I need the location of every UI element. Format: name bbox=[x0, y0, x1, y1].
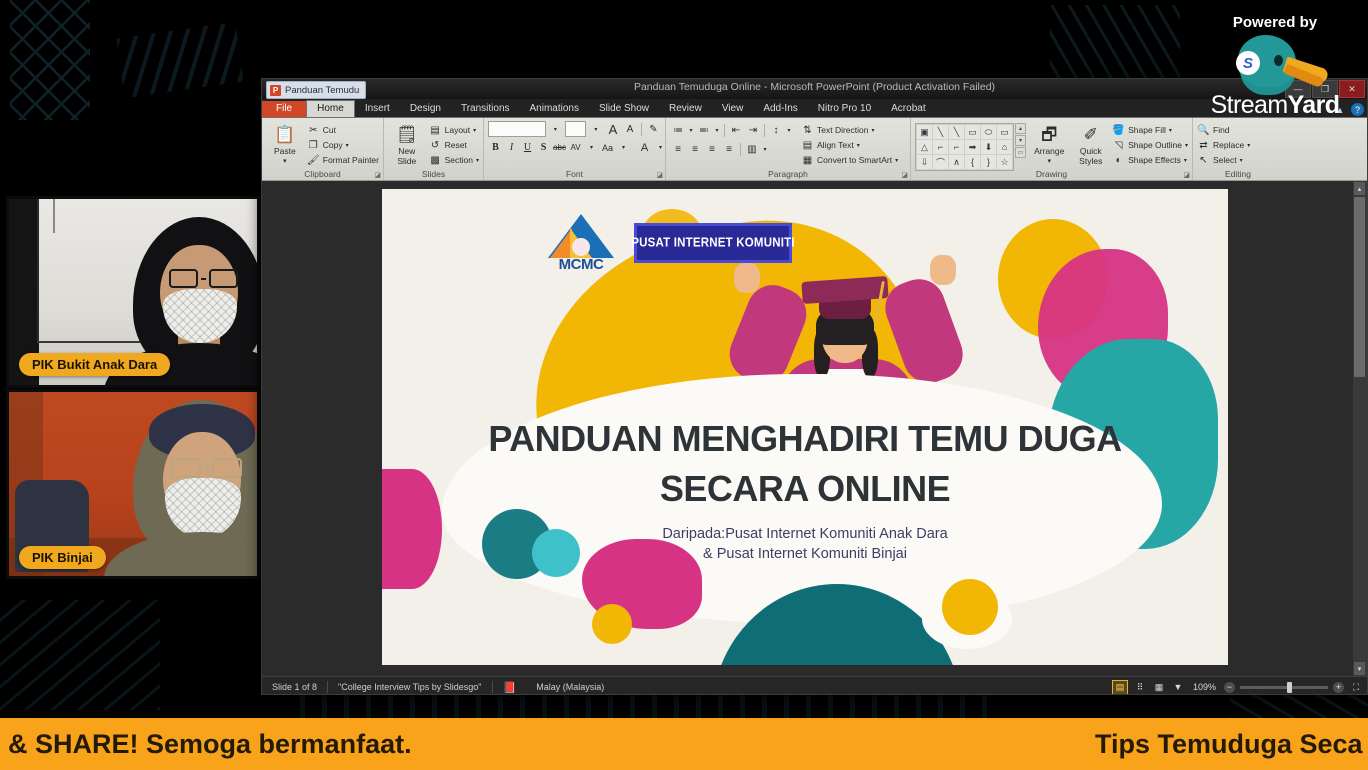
align-center-button[interactable]: ≡ bbox=[687, 142, 703, 157]
arrange-icon: 🗗 bbox=[1036, 123, 1062, 147]
shape-effects-icon: ◐ bbox=[1112, 154, 1125, 167]
clipboard-dialog-launcher[interactable]: ◪ bbox=[374, 171, 381, 179]
text-direction-label: Text Direction bbox=[817, 125, 869, 135]
shape-gallery-item[interactable]: ☆ bbox=[997, 155, 1012, 169]
chevron-down-icon[interactable]: ▾ bbox=[857, 142, 860, 149]
powerpoint-window[interactable]: P Panduan Temudu Panduan Temuduga Online… bbox=[261, 78, 1368, 695]
duck-eye bbox=[1274, 55, 1283, 66]
cut-label: Cut bbox=[323, 125, 336, 135]
shape-gallery-item[interactable]: ⌂ bbox=[997, 140, 1012, 154]
group-label-editing: Editing bbox=[1193, 169, 1283, 180]
hand-shape bbox=[930, 255, 956, 285]
group-label-clipboard: Clipboard bbox=[262, 169, 383, 180]
ribbon-group-clipboard: 📋 Paste ▾ ✂ Cut ❐ Copy ▾ bbox=[262, 118, 384, 180]
chevron-down-icon[interactable]: ▾ bbox=[1185, 142, 1188, 149]
shape-fill-label: Shape Fill bbox=[1128, 125, 1166, 135]
copy-button[interactable]: ❐ Copy ▾ bbox=[307, 138, 379, 152]
shapes-gallery-scroll[interactable]: ▴ ▾ ▭ bbox=[1015, 123, 1026, 158]
group-label-paragraph: Paragraph bbox=[666, 169, 910, 180]
tab-add-ins[interactable]: Add-Ins bbox=[753, 101, 807, 117]
section-icon: ▩ bbox=[429, 154, 442, 167]
slide-title-line-1: PANDUAN MENGHADIRI TEMU DUGA bbox=[422, 414, 1188, 464]
smartart-icon: ▦ bbox=[801, 154, 814, 167]
chevron-down-icon[interactable]: ▾ bbox=[473, 127, 476, 134]
mcmc-circle bbox=[572, 238, 590, 256]
shape-gallery-item[interactable]: ▭ bbox=[997, 125, 1012, 139]
scissors-icon: ✂ bbox=[307, 124, 320, 137]
find-label: Find bbox=[1213, 125, 1230, 135]
format-painter-label: Format Painter bbox=[323, 155, 379, 165]
shape-outline-label: Shape Outline bbox=[1128, 140, 1182, 150]
whiteboard-frame bbox=[53, 199, 55, 233]
quick-styles-label-2: Styles bbox=[1079, 157, 1102, 167]
shape-gallery-item[interactable]: ╲ bbox=[949, 125, 964, 139]
shape-gallery-item[interactable]: ⌐ bbox=[933, 140, 948, 154]
change-case-button[interactable]: Aa bbox=[600, 140, 615, 155]
shape-gallery-item[interactable]: ⬇ bbox=[981, 140, 996, 154]
fit-to-window-button[interactable]: ⛶ bbox=[1349, 681, 1363, 694]
tab-design[interactable]: Design bbox=[400, 101, 451, 117]
shape-fill-icon: 🪣 bbox=[1112, 124, 1125, 137]
paragraph-dialog-launcher[interactable]: ◪ bbox=[901, 171, 908, 179]
slide-counter: Slide 1 of 8 bbox=[262, 682, 327, 692]
new-slide-icon: 🗒 bbox=[394, 123, 420, 147]
slide-editing-area[interactable]: MCMC PUSAT INTERNET KOMUNITI PANDUAN MEN… bbox=[262, 181, 1367, 676]
chevron-down-icon[interactable]: ▾ bbox=[616, 140, 631, 155]
status-bar[interactable]: Slide 1 of 8 "College Interview Tips by … bbox=[262, 676, 1367, 695]
language-indicator[interactable]: Malay (Malaysia) bbox=[526, 682, 614, 692]
chevron-down-icon[interactable]: ▾ bbox=[1184, 157, 1187, 164]
spell-check-icon[interactable]: 📕 bbox=[493, 681, 527, 694]
stream-stage: PIK Bukit Anak Dara bbox=[0, 0, 1368, 770]
tab-nitro-pro-10[interactable]: Nitro Pro 10 bbox=[808, 101, 881, 117]
numbering-button[interactable]: ≕ bbox=[696, 123, 712, 138]
ribbon-group-editing: 🔍 Find ⇄ Replace ▾ ↖ Select ▾ bbox=[1193, 118, 1283, 180]
vertical-scrollbar[interactable]: ▴ ▾ bbox=[1353, 181, 1367, 676]
font-size-dropdown-icon[interactable]: ▾ bbox=[588, 122, 603, 137]
shape-outline-button[interactable]: ◹ Shape Outline ▾ bbox=[1112, 138, 1188, 152]
chevron-down-icon[interactable]: ▾ bbox=[761, 142, 769, 157]
font-color-button[interactable]: A bbox=[637, 140, 652, 155]
whiteboard-frame bbox=[37, 199, 39, 343]
pik-badge-text: PUSAT INTERNET KOMUNITI bbox=[631, 236, 794, 250]
strikethrough-button[interactable]: abc bbox=[552, 140, 567, 155]
slide-canvas[interactable]: MCMC PUSAT INTERNET KOMUNITI PANDUAN MEN… bbox=[382, 189, 1228, 665]
shape-gallery-item[interactable]: ▣ bbox=[917, 125, 932, 139]
align-text-button[interactable]: ▤ Align Text ▾ bbox=[801, 138, 898, 152]
paste-icon: 📋 bbox=[272, 123, 298, 147]
zoom-out-button[interactable]: − bbox=[1224, 682, 1235, 693]
chevron-down-icon[interactable]: ▾ bbox=[1247, 142, 1250, 149]
tab-home[interactable]: Home bbox=[306, 100, 355, 117]
shape-gallery-item[interactable]: } bbox=[981, 155, 996, 169]
zoom-slider-handle[interactable] bbox=[1287, 682, 1292, 693]
font-name-dropdown-icon[interactable]: ▾ bbox=[548, 122, 563, 137]
view-normal-button[interactable]: ▤ bbox=[1112, 680, 1128, 695]
background-scribble bbox=[0, 600, 160, 710]
camera-tile-1[interactable]: PIK Bukit Anak Dara bbox=[6, 196, 260, 388]
brand-yard: Yard bbox=[1288, 91, 1340, 119]
chevron-down-icon[interactable]: ▾ bbox=[1240, 157, 1243, 164]
align-text-icon: ▤ bbox=[801, 139, 814, 152]
replace-label: Replace bbox=[1213, 140, 1244, 150]
tab-review[interactable]: Review bbox=[659, 101, 712, 117]
shape-gallery-item[interactable]: ▭ bbox=[965, 125, 980, 139]
drawing-dialog-launcher[interactable]: ◪ bbox=[1183, 171, 1190, 179]
font-size-input[interactable] bbox=[565, 121, 587, 137]
convert-smartart-label: Convert to SmartArt bbox=[817, 155, 892, 165]
search-icon: 🔍 bbox=[1197, 124, 1210, 137]
slide-subtitle-line-2: & Pusat Internet Komuniti Binjai bbox=[422, 544, 1188, 564]
grow-font-button[interactable]: A bbox=[605, 122, 620, 137]
copy-label: Copy bbox=[323, 140, 343, 150]
underline-button[interactable]: U bbox=[520, 140, 535, 155]
ribbon-group-font: ▾ ▾ A A ✎ B I U S abc AV bbox=[484, 118, 666, 180]
shape-fill-button[interactable]: 🪣 Shape Fill ▾ bbox=[1112, 123, 1188, 137]
blob-yellow bbox=[942, 579, 998, 635]
ticker-text-right: Tips Temuduga Seca bbox=[1095, 729, 1363, 760]
paste-dropdown-arrow[interactable]: ▾ bbox=[283, 157, 287, 167]
theme-name[interactable]: "College Interview Tips by Slidesgo" bbox=[328, 682, 491, 692]
chevron-down-icon[interactable]: ▾ bbox=[1169, 127, 1172, 134]
group-label-slides: Slides bbox=[384, 169, 483, 180]
chevron-down-icon[interactable]: ▾ bbox=[872, 127, 875, 134]
mcmc-triangle-orange bbox=[550, 228, 572, 258]
layout-icon: ▤ bbox=[429, 124, 442, 137]
shape-gallery-item[interactable]: ➡ bbox=[965, 140, 980, 154]
group-label-drawing: Drawing bbox=[911, 169, 1192, 180]
chevron-down-icon[interactable]: ▾ bbox=[346, 142, 349, 149]
participant-name-badge: PIK Binjai bbox=[19, 546, 106, 569]
zoom-level: 109% bbox=[1190, 682, 1219, 692]
align-text-label: Align Text bbox=[817, 140, 854, 150]
paintbrush-icon: 🖌 bbox=[307, 154, 320, 167]
align-right-button[interactable]: ≡ bbox=[704, 142, 720, 157]
quick-styles-icon: ✐ bbox=[1078, 123, 1104, 147]
shrink-font-button[interactable]: A bbox=[622, 122, 637, 137]
layout-label: Layout bbox=[445, 125, 471, 135]
shape-gallery-item[interactable]: ⌒ bbox=[933, 155, 948, 169]
divider bbox=[740, 143, 741, 156]
text-shadow-button[interactable]: S bbox=[536, 140, 551, 155]
divider bbox=[724, 124, 725, 137]
hand-shape bbox=[734, 263, 760, 293]
shape-gallery-item[interactable]: ⌐ bbox=[949, 140, 964, 154]
shape-gallery-item[interactable]: ∧ bbox=[949, 155, 964, 169]
bold-button[interactable]: B bbox=[488, 140, 503, 155]
reset-button[interactable]: ↺ Reset bbox=[429, 138, 479, 152]
reset-label: Reset bbox=[445, 140, 467, 150]
help-icon[interactable]: ? bbox=[1351, 103, 1364, 116]
glasses-icon bbox=[171, 458, 242, 478]
line-spacing-button[interactable]: ↕ bbox=[768, 123, 784, 138]
scroll-up-icon[interactable]: ▴ bbox=[1354, 182, 1365, 195]
mcmc-logo: MCMC bbox=[544, 214, 618, 276]
shape-gallery-item[interactable]: { bbox=[965, 155, 980, 169]
tab-file[interactable]: File bbox=[262, 101, 306, 117]
more-shapes-icon[interactable]: ▭ bbox=[1015, 147, 1026, 158]
decrease-indent-button[interactable]: ⇤ bbox=[728, 123, 744, 138]
select-label: Select bbox=[1213, 155, 1237, 165]
ribbon[interactable]: 📋 Paste ▾ ✂ Cut ❐ Copy ▾ bbox=[262, 118, 1367, 181]
tab-acrobat[interactable]: Acrobat bbox=[881, 101, 935, 117]
pusat-internet-komuniti-badge: PUSAT INTERNET KOMUNITI bbox=[634, 223, 792, 263]
shape-effects-button[interactable]: ◐ Shape Effects ▾ bbox=[1112, 153, 1188, 167]
text-direction-icon: ⇅ bbox=[801, 124, 814, 137]
view-slideshow-button[interactable]: ▼ bbox=[1171, 681, 1185, 694]
chevron-down-icon[interactable]: ▾ bbox=[584, 140, 599, 155]
tab-view[interactable]: View bbox=[712, 101, 754, 117]
cursor-icon: ↖ bbox=[1197, 154, 1210, 167]
bottom-ticker-banner: & SHARE! Semoga bermanfaat. Tips Temudug… bbox=[0, 718, 1368, 770]
replace-button[interactable]: ⇄ Replace ▾ bbox=[1197, 138, 1250, 152]
font-name-input[interactable] bbox=[488, 121, 546, 137]
streamyard-brand-name: StreamYard bbox=[1200, 91, 1350, 120]
copy-icon: ❐ bbox=[307, 139, 320, 152]
arrange-label: Arrange bbox=[1034, 147, 1064, 157]
divider bbox=[764, 124, 765, 137]
convert-to-smartart-button[interactable]: ▦ Convert to SmartArt ▾ bbox=[801, 153, 898, 167]
ribbon-group-paragraph: ≔ ▾ ≕ ▾ ⇤ ⇥ ↕ ▾ ≡ bbox=[666, 118, 911, 180]
tab-transitions[interactable]: Transitions bbox=[451, 101, 520, 117]
slide-subtitle[interactable]: Daripada:Pusat Internet Komuniti Anak Da… bbox=[422, 524, 1188, 564]
replace-icon: ⇄ bbox=[1197, 139, 1210, 152]
shape-outline-icon: ◹ bbox=[1112, 139, 1125, 152]
zoom-in-button[interactable]: + bbox=[1333, 682, 1344, 693]
scroll-up-icon[interactable]: ▴ bbox=[1015, 123, 1026, 134]
section-button[interactable]: ▩ Section ▾ bbox=[429, 153, 479, 167]
tab-slide-show[interactable]: Slide Show bbox=[589, 101, 659, 117]
justify-button[interactable]: ≡ bbox=[721, 142, 737, 157]
shape-gallery-item[interactable]: △ bbox=[917, 140, 932, 154]
ribbon-group-slides: 🗒 New Slide ▤ Layout ▾ ↺ Reset bbox=[384, 118, 484, 180]
view-reading-button[interactable]: ▦ bbox=[1152, 681, 1166, 694]
blob-yellow bbox=[592, 604, 632, 644]
slide-subtitle-line-1: Daripada:Pusat Internet Komuniti Anak Da… bbox=[422, 524, 1188, 544]
chevron-down-icon[interactable]: ▾ bbox=[785, 123, 793, 138]
streamyard-s-mark: S bbox=[1236, 51, 1260, 75]
cut-button[interactable]: ✂ Cut bbox=[307, 123, 379, 137]
shape-effects-label: Shape Effects bbox=[1128, 155, 1181, 165]
status-bar-right[interactable]: ▤ ⠿ ▦ ▼ 109% − + ⛶ bbox=[1112, 680, 1363, 695]
new-slide-label-2: Slide bbox=[397, 157, 416, 167]
brand-stream: Stream bbox=[1211, 91, 1288, 119]
section-label: Section bbox=[445, 155, 473, 165]
streamyard-watermark: Powered by S StreamYard bbox=[1200, 14, 1350, 120]
ticker-text-left: & SHARE! Semoga bermanfaat. bbox=[8, 729, 412, 760]
slide-title-line-2: SECARA ONLINE bbox=[422, 464, 1188, 514]
camera-tile-2[interactable]: PIK Binjai bbox=[6, 389, 260, 579]
chevron-down-icon[interactable]: ▾ bbox=[1047, 157, 1051, 167]
tab-insert[interactable]: Insert bbox=[355, 101, 400, 117]
shape-gallery-item[interactable]: ╲ bbox=[933, 125, 948, 139]
scroll-down-icon[interactable]: ▾ bbox=[1015, 135, 1026, 146]
shape-gallery-item[interactable]: ⇩ bbox=[917, 155, 932, 169]
italic-button[interactable]: I bbox=[504, 140, 519, 155]
reset-icon: ↺ bbox=[429, 139, 442, 152]
format-painter-button[interactable]: 🖌 Format Painter bbox=[307, 153, 379, 167]
view-slide-sorter-button[interactable]: ⠿ bbox=[1133, 681, 1147, 694]
scroll-down-icon[interactable]: ▾ bbox=[1354, 662, 1365, 675]
chevron-down-icon[interactable]: ▾ bbox=[895, 157, 898, 164]
shape-gallery-item[interactable]: ⬭ bbox=[981, 125, 996, 139]
increase-indent-button[interactable]: ⇥ bbox=[745, 123, 761, 138]
graduation-cap bbox=[801, 276, 888, 304]
glasses-icon bbox=[169, 269, 238, 288]
tab-animations[interactable]: Animations bbox=[520, 101, 589, 117]
mcmc-logo-text: MCMC bbox=[544, 256, 618, 273]
background-scribble bbox=[116, 22, 243, 98]
find-button[interactable]: 🔍 Find bbox=[1197, 123, 1250, 137]
scrollbar-thumb[interactable] bbox=[1354, 197, 1365, 377]
shapes-gallery[interactable]: ▣╲╲▭⬭▭△⌐⌐➡⬇⌂⇩⌒∧{}☆ bbox=[915, 123, 1014, 171]
powered-by-label: Powered by bbox=[1200, 14, 1350, 31]
paste-label: Paste bbox=[274, 147, 296, 157]
chevron-down-icon[interactable]: ▾ bbox=[476, 157, 479, 164]
select-button[interactable]: ↖ Select ▾ bbox=[1197, 153, 1250, 167]
character-spacing-button[interactable]: AV bbox=[568, 140, 583, 155]
ribbon-group-drawing: ▣╲╲▭⬭▭△⌐⌐➡⬇⌂⇩⌒∧{}☆ ▴ ▾ ▭ 🗗 Arrange ▾ ✐ bbox=[911, 118, 1193, 180]
divider bbox=[641, 123, 642, 136]
chevron-down-icon[interactable]: ▾ bbox=[713, 123, 721, 138]
font-dialog-launcher[interactable]: ◪ bbox=[656, 171, 663, 179]
slide-title[interactable]: PANDUAN MENGHADIRI TEMU DUGA SECARA ONLI… bbox=[422, 414, 1188, 514]
participant-name-badge: PIK Bukit Anak Dara bbox=[19, 353, 170, 376]
columns-button[interactable]: ▥ bbox=[744, 142, 760, 157]
text-direction-button[interactable]: ⇅ Text Direction ▾ bbox=[801, 123, 898, 137]
align-left-button[interactable]: ≡ bbox=[670, 142, 686, 157]
layout-button[interactable]: ▤ Layout ▾ bbox=[429, 123, 479, 137]
group-label-font: Font bbox=[484, 169, 665, 180]
chevron-down-icon[interactable]: ▾ bbox=[687, 123, 695, 138]
background-scribble bbox=[10, 0, 90, 120]
zoom-slider[interactable] bbox=[1240, 686, 1328, 689]
bullets-button[interactable]: ≔ bbox=[670, 123, 686, 138]
duck-icon: S bbox=[1200, 33, 1350, 95]
clear-formatting-button[interactable]: ✎ bbox=[646, 122, 661, 137]
